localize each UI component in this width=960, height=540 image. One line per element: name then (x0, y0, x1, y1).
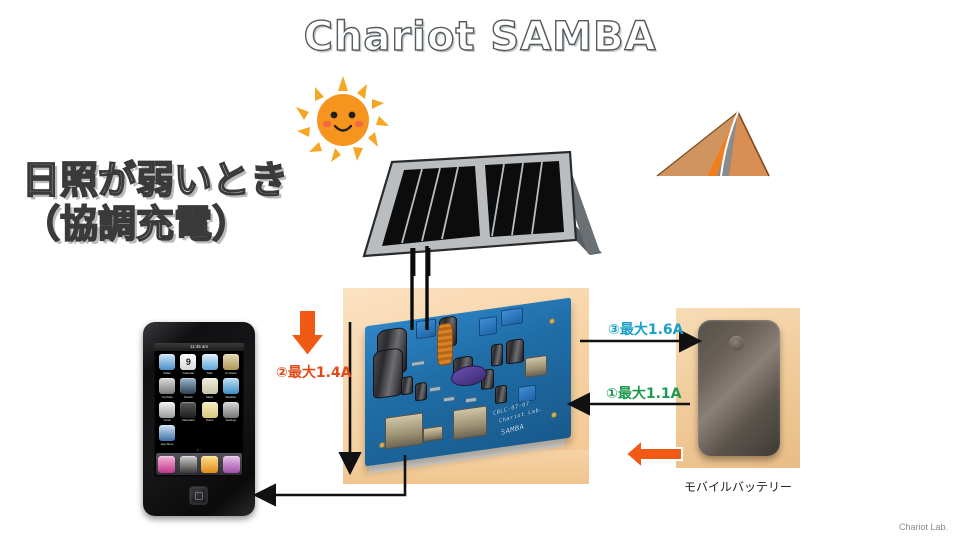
app-label: App Store (161, 442, 174, 446)
usb-micro-port (423, 426, 443, 443)
footer-credit: Chariot Lab. (899, 522, 948, 532)
terminal-block (518, 384, 536, 403)
page-dots: • · (154, 447, 244, 452)
capacitor (373, 347, 403, 399)
app-glyph-icon (223, 378, 239, 394)
terminal-block (416, 318, 436, 339)
app-icon-contacts[interactable]: Contacts (222, 354, 240, 375)
app-icon-calendar[interactable]: 9Calendar (179, 354, 197, 375)
mosfet (506, 338, 524, 365)
smd-part (411, 360, 425, 367)
app-icon-clock[interactable]: Clock (158, 402, 176, 423)
slide-canvas: Chariot SAMBA 日照が弱いとき （協調充電） (0, 0, 960, 540)
dock-icon-itunes[interactable] (158, 456, 175, 473)
smd-part (443, 396, 455, 403)
home-square-icon (195, 492, 203, 500)
page-title: Chariot SAMBA (0, 14, 960, 60)
status-bar: 11:45 am (154, 343, 244, 351)
dock-icon-photos[interactable] (201, 456, 218, 473)
usb-port (453, 405, 487, 440)
usb-port (385, 412, 423, 449)
app-icon-weather[interactable]: Weather (222, 378, 240, 399)
app-label: Calendar (183, 371, 195, 375)
app-icon-safari[interactable]: Safari (158, 354, 176, 375)
app-glyph-icon (202, 354, 218, 370)
app-glyph-icon (159, 378, 175, 394)
pcb: CBLC-07-07 Chariot Lab. SAMBA (365, 298, 571, 467)
app-icon-calculator[interactable]: Calculator (179, 402, 197, 423)
app-label: Weather (225, 395, 236, 399)
app-grid: Safari9CalendarMailContactsYouTubeStocks… (158, 354, 240, 446)
app-glyph-icon (180, 402, 196, 418)
app-label: Settings (226, 418, 236, 422)
app-label: Maps (206, 395, 213, 399)
solar-panel-icon (352, 148, 624, 276)
app-icon-stocks[interactable]: Stocks (179, 378, 197, 399)
app-glyph-icon (223, 402, 239, 418)
app-icon-youtube[interactable]: YouTube (158, 378, 176, 399)
mosfet (495, 385, 507, 405)
app-glyph-icon (159, 425, 175, 441)
app-label: Contacts (225, 371, 236, 375)
ipod-screen: 11:45 am Safari9CalendarMailContactsYouT… (154, 343, 244, 477)
mosfet (415, 382, 427, 402)
app-label: Calculator (182, 418, 195, 422)
orange-down-arrow (290, 310, 325, 356)
app-label: Safari (163, 371, 171, 375)
battery-body (698, 320, 780, 456)
flow-label-2: ②最大1.4A (276, 362, 352, 382)
terminal-block (479, 316, 497, 337)
ipod-touch-photo: 11:45 am Safari9CalendarMailContactsYouT… (143, 322, 255, 516)
orange-left-arrow (626, 440, 682, 468)
app-label: Mail (207, 371, 212, 375)
app-glyph-icon (223, 354, 239, 370)
silkscreen-product-name: SAMBA (501, 422, 524, 436)
app-icon-mail[interactable]: Mail (201, 354, 219, 375)
smd-part (465, 397, 477, 404)
app-icon-settings[interactable]: Settings (222, 402, 240, 423)
app-glyph-icon (202, 378, 218, 394)
circuit-board-photo: CBLC-07-07 Chariot Lab. SAMBA (343, 288, 589, 484)
app-label: Stocks (184, 395, 193, 399)
dock-icon-videos[interactable] (180, 456, 197, 473)
mosfet (401, 376, 413, 396)
mobile-battery-photo (676, 308, 800, 468)
app-glyph-icon (159, 354, 175, 370)
dock-icon-music[interactable] (223, 456, 240, 473)
battery-caption: モバイルバッテリー (672, 478, 804, 495)
flow-label-3: ③最大1.6A (608, 319, 684, 339)
app-icon-notes[interactable]: Notes (201, 402, 219, 423)
flow-label-1: ①最大1.1A (606, 383, 682, 403)
smd-part (429, 386, 441, 393)
battery-button (729, 336, 744, 351)
app-glyph-icon (159, 402, 175, 418)
app-glyph-icon (202, 402, 218, 418)
home-button[interactable] (189, 486, 208, 505)
headline-text: 日照が弱いとき （協調充電） (22, 158, 288, 247)
terminal-block (501, 307, 523, 326)
app-label: Clock (164, 418, 171, 422)
dock (156, 453, 242, 475)
app-label: Notes (206, 418, 214, 422)
app-icon-app-store[interactable]: App Store (158, 425, 176, 446)
mosfet (491, 343, 503, 367)
mount-hole (549, 318, 555, 325)
tent-icon (655, 108, 771, 180)
inductor-coil (437, 322, 453, 366)
app-glyph-icon: 9 (180, 354, 196, 370)
usb-port-side (525, 355, 547, 378)
app-icon-maps[interactable]: Maps (201, 378, 219, 399)
mount-hole (551, 411, 557, 418)
app-glyph-icon (180, 378, 196, 394)
app-label: YouTube (161, 395, 172, 399)
